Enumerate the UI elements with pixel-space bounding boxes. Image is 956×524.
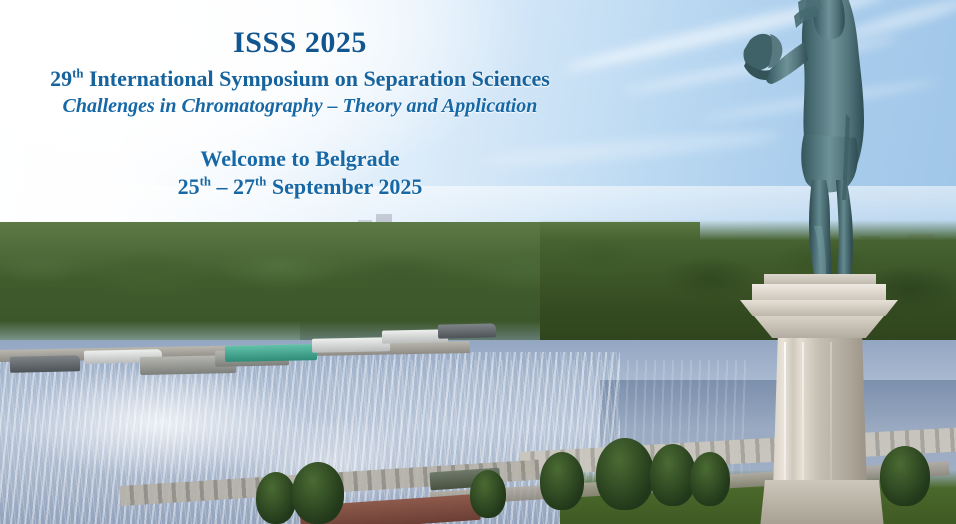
symposium-tagline: Challenges in Chromatography – Theory an… (0, 95, 600, 118)
pedestal-base (760, 480, 884, 524)
date-month-year: September 2025 (266, 174, 422, 199)
date-start-suffix: th (200, 175, 211, 189)
conference-poster: ISSS 2025 29th International Symposium o… (0, 0, 956, 524)
pedestal-cap (752, 284, 886, 300)
symposium-subtitle: 29th International Symposium on Separati… (0, 66, 600, 92)
foreground-tree (470, 470, 506, 518)
foreground-tree (596, 438, 654, 510)
date-range-dash: – (211, 174, 233, 199)
foreground-tree (256, 472, 296, 524)
date-end-suffix: th (255, 175, 266, 189)
victor-monument (720, 0, 956, 524)
welcome-heading: Welcome to Belgrade (0, 146, 600, 172)
pedestal-echinus (754, 316, 884, 338)
symposium-ordinal-suffix: th (72, 67, 83, 81)
poster-text-block: ISSS 2025 29th International Symposium o… (0, 0, 600, 200)
event-dates: 25th – 27th September 2025 (0, 174, 600, 200)
date-end-number: 27 (233, 174, 255, 199)
foreground-tree (540, 452, 584, 510)
boat-barge-left (10, 355, 80, 372)
victor-statue-figure (720, 0, 956, 304)
symposium-subtitle-rest: International Symposium on Separation Sc… (84, 66, 550, 91)
foreground-tree (292, 462, 344, 524)
date-start-number: 25 (178, 174, 200, 199)
symposium-ordinal-number: 29 (50, 66, 72, 91)
boat-pontoon-white-2 (312, 337, 390, 353)
pedestal-abacus (740, 300, 898, 316)
foreground-tree (650, 444, 696, 506)
boat-boat-teal (225, 344, 317, 362)
boat-barge-dark-r (438, 323, 496, 338)
page-title: ISSS 2025 (0, 26, 600, 60)
